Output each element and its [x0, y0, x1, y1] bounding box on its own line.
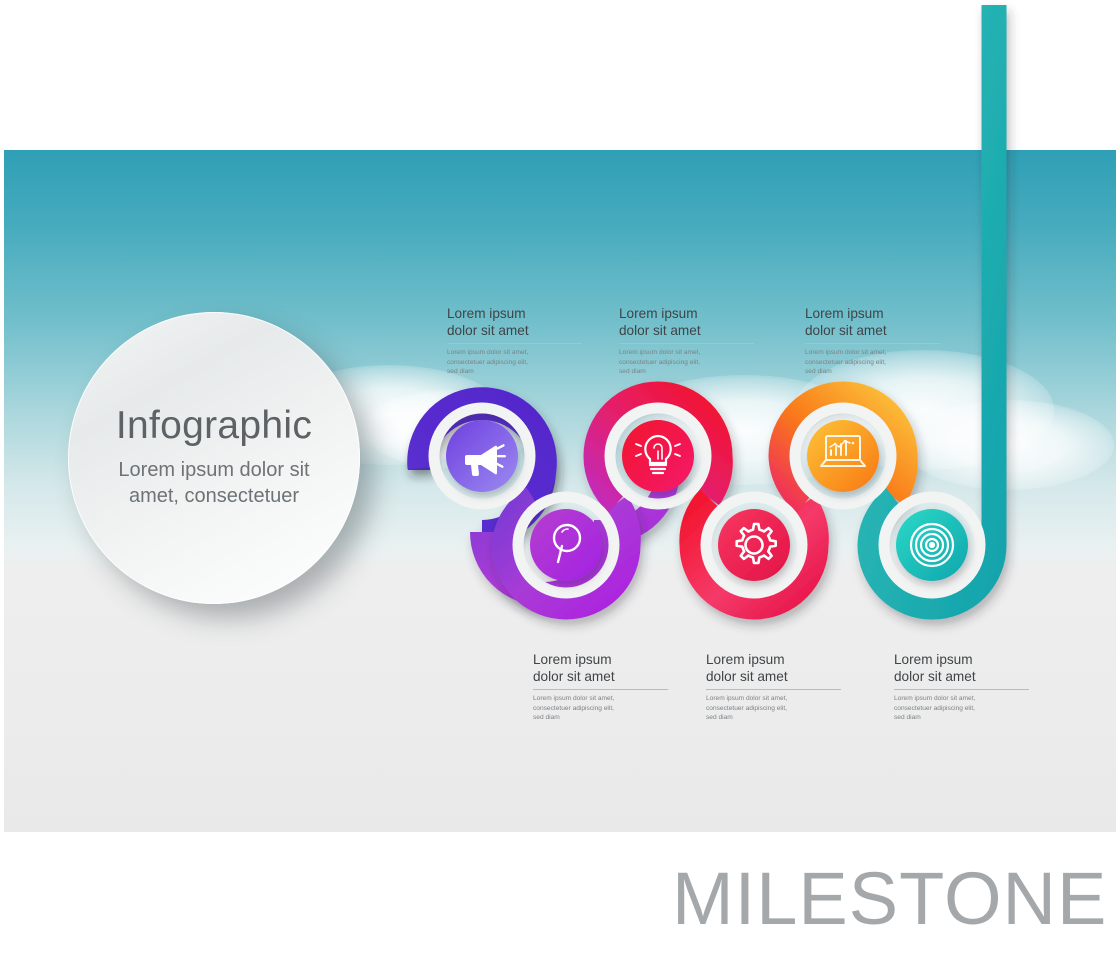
step-desc-line1: Lorem ipsum dolor sit amet,	[805, 348, 945, 357]
step-desc-line2: consectetuer adipiscing elit,	[447, 358, 587, 367]
step-desc-line3: sed diam	[706, 713, 846, 722]
step-desc-line3: sed diam	[533, 713, 673, 722]
step-label-2: Lorem ipsum dolor sit amet Lorem ipsum d…	[533, 652, 673, 722]
step-title-line2: dolor sit amet	[619, 323, 759, 340]
hub-ring-5	[795, 408, 891, 504]
step-title-line1: Lorem ipsum	[447, 306, 587, 323]
step-desc-line2: consectetuer adipiscing elit,	[619, 358, 759, 367]
step-desc-line2: consectetuer adipiscing elit,	[706, 704, 846, 713]
step-desc-line2: consectetuer adipiscing elit,	[805, 358, 945, 367]
hub-ring-1	[434, 408, 530, 504]
label-divider	[894, 689, 1029, 690]
hero-title: Infographic	[116, 406, 312, 445]
step-desc-line3: sed diam	[447, 367, 587, 376]
step-desc-line1: Lorem ipsum dolor sit amet,	[447, 348, 587, 357]
step-desc-line1: Lorem ipsum dolor sit amet,	[533, 694, 673, 703]
step-desc-line2: consectetuer adipiscing elit,	[894, 704, 1034, 713]
step-title-line2: dolor sit amet	[533, 669, 673, 686]
step-desc-line3: sed diam	[805, 367, 945, 376]
step-label-3: Lorem ipsum dolor sit amet Lorem ipsum d…	[619, 306, 759, 376]
hub-ring-6	[884, 497, 980, 593]
step-title-line1: Lorem ipsum	[619, 306, 759, 323]
label-divider	[805, 343, 940, 344]
step-title-line1: Lorem ipsum	[533, 652, 673, 669]
label-divider	[619, 343, 754, 344]
step-label-5: Lorem ipsum dolor sit amet Lorem ipsum d…	[805, 306, 945, 376]
label-divider	[447, 343, 582, 344]
step-label-4: Lorem ipsum dolor sit amet Lorem ipsum d…	[706, 652, 846, 722]
label-divider	[533, 689, 668, 690]
step-label-6: Lorem ipsum dolor sit amet Lorem ipsum d…	[894, 652, 1034, 722]
step-desc-line3: sed diam	[894, 713, 1034, 722]
step-label-1: Lorem ipsum dolor sit amet Lorem ipsum d…	[447, 306, 587, 376]
step-desc-line3: sed diam	[619, 367, 759, 376]
infographic-canvas: Infographic Lorem ipsum dolor sit amet, …	[0, 0, 1120, 980]
step-title-line1: Lorem ipsum	[894, 652, 1034, 669]
step-title-line2: dolor sit amet	[894, 669, 1034, 686]
step-desc-line1: Lorem ipsum dolor sit amet,	[706, 694, 846, 703]
hub-ring-4	[706, 497, 802, 593]
step-title-line1: Lorem ipsum	[805, 306, 945, 323]
label-divider	[706, 689, 841, 690]
step-title-line2: dolor sit amet	[447, 323, 587, 340]
hero-subtitle: Lorem ipsum dolor sit amet, consectetuer	[97, 458, 332, 509]
step-title-line2: dolor sit amet	[706, 669, 846, 686]
step-title-line2: dolor sit amet	[805, 323, 945, 340]
step-title-line1: Lorem ipsum	[706, 652, 846, 669]
step-desc-line2: consectetuer adipiscing elit,	[533, 704, 673, 713]
milestone-title: MILESTONE	[672, 862, 1107, 936]
hero-circle: Infographic Lorem ipsum dolor sit amet, …	[68, 312, 360, 604]
step-desc-line1: Lorem ipsum dolor sit amet,	[619, 348, 759, 357]
step-desc-line1: Lorem ipsum dolor sit amet,	[894, 694, 1034, 703]
